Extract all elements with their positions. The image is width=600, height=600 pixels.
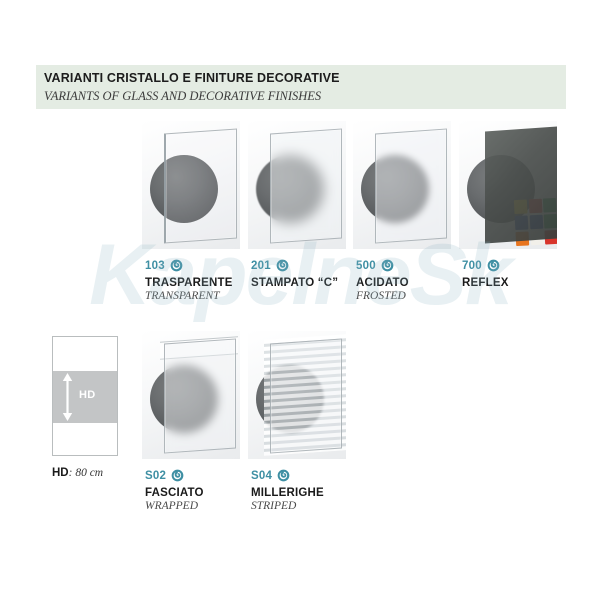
sample-name: TRASPARENTE bbox=[145, 277, 233, 289]
sample-code: S02 bbox=[145, 470, 166, 482]
glass-pane bbox=[164, 338, 236, 453]
sample-image-700[interactable] bbox=[459, 121, 557, 249]
glass-pane bbox=[270, 128, 342, 243]
sample-image-500[interactable] bbox=[353, 121, 451, 249]
code-row: 103 bbox=[145, 258, 233, 273]
droplet-icon bbox=[381, 259, 394, 272]
page-title: VARIANTI CRISTALLO E FINITURE DECORATIVE bbox=[44, 71, 340, 85]
droplet-icon bbox=[487, 259, 500, 272]
sample-alt-name: TRANSPARENT bbox=[145, 290, 233, 302]
sample-name: FASCIATO bbox=[145, 487, 204, 499]
code-row: S04 bbox=[251, 468, 324, 483]
hd-diagram: HD bbox=[52, 336, 118, 456]
sample-caption-S04: S04 MILLERIGHE STRIPED bbox=[251, 468, 324, 512]
sample-name: REFLEX bbox=[462, 277, 509, 289]
sample-alt-name: STRIPED bbox=[251, 500, 324, 512]
droplet-icon bbox=[170, 259, 183, 272]
sample-code: 500 bbox=[356, 260, 376, 272]
mirrored-glass-pane bbox=[485, 126, 557, 243]
sample-name: STAMPATO “C” bbox=[251, 277, 338, 289]
hd-caption: HD: 80 cm bbox=[52, 467, 103, 479]
hd-double-arrow-icon bbox=[62, 373, 73, 421]
sample-caption-103: 103 TRASPARENTE TRANSPARENT bbox=[145, 258, 233, 302]
sample-image-S02[interactable] bbox=[142, 331, 240, 459]
sample-code: S04 bbox=[251, 470, 272, 482]
hd-caption-label: HD bbox=[52, 467, 69, 479]
hd-caption-value: : 80 cm bbox=[69, 467, 104, 479]
sample-alt-name: FROSTED bbox=[356, 290, 409, 302]
code-row: S02 bbox=[145, 468, 204, 483]
glass-pane bbox=[270, 338, 342, 453]
droplet-icon bbox=[171, 469, 184, 482]
sample-alt-name: WRAPPED bbox=[145, 500, 204, 512]
sample-code: 201 bbox=[251, 260, 271, 272]
page-subtitle: VARIANTS OF GLASS AND DECORATIVE FINISHE… bbox=[44, 89, 321, 104]
droplet-icon bbox=[277, 469, 290, 482]
droplet-icon bbox=[276, 259, 289, 272]
sample-name: MILLERIGHE bbox=[251, 487, 324, 499]
sample-image-201[interactable] bbox=[248, 121, 346, 249]
sample-code: 700 bbox=[462, 260, 482, 272]
glass-pane bbox=[375, 128, 447, 243]
sample-caption-700: 700 REFLEX bbox=[462, 258, 509, 290]
code-row: 201 bbox=[251, 258, 338, 273]
sample-image-S04[interactable] bbox=[248, 331, 346, 459]
sample-image-103[interactable] bbox=[142, 121, 240, 249]
hd-band-label: HD bbox=[79, 389, 96, 401]
code-row: 700 bbox=[462, 258, 509, 273]
sample-code: 103 bbox=[145, 260, 165, 272]
sample-caption-201: 201 STAMPATO “C” bbox=[251, 258, 338, 290]
sample-caption-500: 500 ACIDATO FROSTED bbox=[356, 258, 409, 302]
glass-pane bbox=[164, 128, 237, 243]
code-row: 500 bbox=[356, 258, 409, 273]
sample-caption-S02: S02 FASCIATO WRAPPED bbox=[145, 468, 204, 512]
sample-name: ACIDATO bbox=[356, 277, 409, 289]
